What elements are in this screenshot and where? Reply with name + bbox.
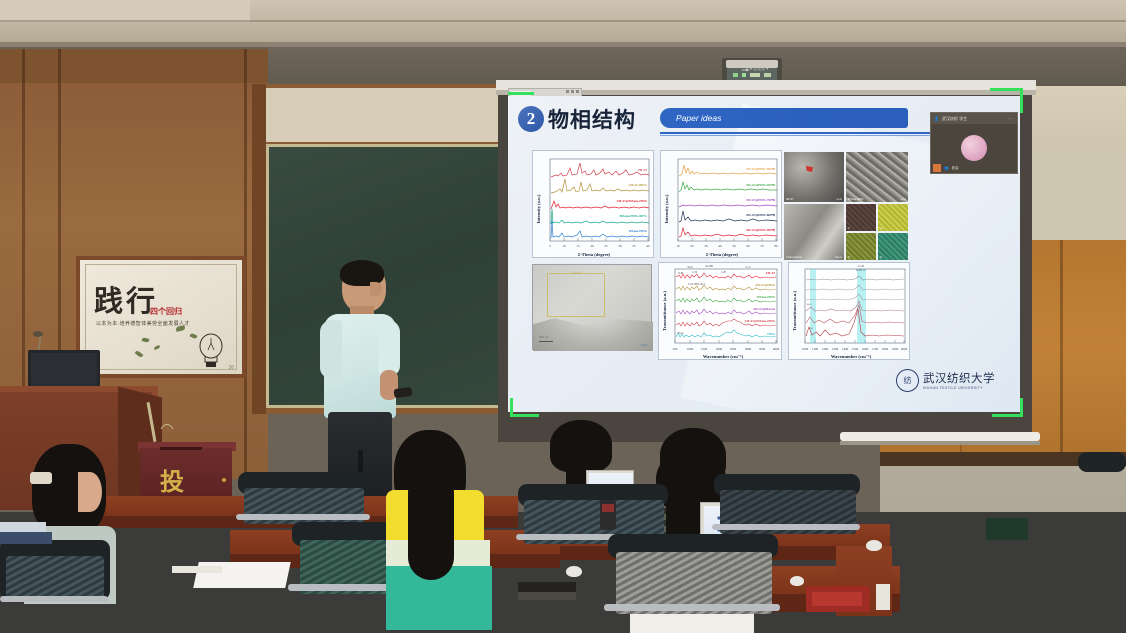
- university-name-cn: 武汉纺织大学: [923, 370, 995, 386]
- svg-text:Si-O: Si-O: [688, 266, 693, 269]
- svg-text:10: 10: [676, 244, 680, 248]
- ballot-box-latch: [222, 478, 226, 482]
- computer-mouse[interactable]: [866, 540, 882, 551]
- sem-caption: ZIF-67: [786, 198, 794, 201]
- chart-ftir-left-svg: Wavenumber (cm⁻¹) Transmittance (a.u.) 5…: [659, 263, 783, 361]
- svg-text:ZIF-67@MXene-HNTs: ZIF-67@MXene-HNTs: [745, 319, 776, 323]
- pencil-case[interactable]: [172, 566, 222, 573]
- sem-scale-bar: 2 μm: [901, 198, 906, 201]
- mic-off-icon[interactable]: [933, 164, 941, 172]
- svg-text:Transmittance (a.u.): Transmittance (a.u.): [792, 291, 797, 331]
- tem-scale-bar: 500 nm: [539, 335, 549, 339]
- svg-text:2000: 2000: [716, 347, 723, 351]
- slide-section-badge: 2: [518, 106, 544, 132]
- chair-arm[interactable]: [236, 514, 370, 520]
- lightbulb-icon: [196, 332, 226, 370]
- participants-icon[interactable]: 👥: [944, 166, 948, 170]
- eds-map-c: C: [846, 204, 876, 231]
- avatar: [961, 135, 987, 161]
- svg-text:1000: 1000: [687, 347, 694, 351]
- svg-text:ZIF-67@HNTs-500℃: ZIF-67@HNTs-500℃: [746, 167, 775, 171]
- svg-text:N-H/C=C: N-H/C=C: [856, 269, 867, 272]
- chair-arm[interactable]: [0, 596, 108, 602]
- svg-text:1500: 1500: [701, 347, 708, 351]
- tem-micrograph: MX-01 500 nm HNTs: [532, 264, 652, 350]
- svg-text:1400: 1400: [842, 347, 849, 351]
- lecture-hall-screenshot: ▂▄ ● 会议室 ▾ 2 物相结构 Paper ideas: [0, 0, 1126, 633]
- svg-text:ZIF-67: ZIF-67: [766, 271, 776, 275]
- minimize-icon[interactable]: [566, 90, 569, 93]
- svg-text:ZIF-67@MXene-HNTs: ZIF-67@MXene-HNTs: [617, 199, 648, 203]
- presenter-sleeve-right: [378, 320, 400, 376]
- maximize-icon[interactable]: [571, 90, 574, 93]
- svg-text:ZIF-67: ZIF-67: [638, 168, 648, 172]
- tem-corner-label: HNTs: [641, 343, 648, 347]
- university-name-en: WUHAN TEXTILE UNIVERSITY: [923, 386, 995, 390]
- poster-page-number: 36: [228, 365, 234, 371]
- slide-banner: Paper ideas: [660, 108, 908, 128]
- svg-text:Transmittance (a.u.): Transmittance (a.u.): [662, 291, 667, 331]
- remote-desktop-statusbar: ▂▄ ● 会议室 ▾: [700, 64, 810, 74]
- eds-label: Co: [880, 227, 883, 230]
- chair-mesh: [6, 556, 104, 600]
- svg-text:1800: 1800: [882, 347, 889, 351]
- chart-ftir-left: Wavenumber (cm⁻¹) Transmittance (a.u.) 5…: [658, 262, 782, 360]
- eds-label: N: [848, 256, 850, 259]
- svg-text:Intensity (a.u.): Intensity (a.u.): [664, 194, 669, 223]
- participants-label: 参会: [951, 166, 958, 171]
- svg-text:2000: 2000: [901, 347, 908, 351]
- sem-marker-pt: [806, 166, 813, 172]
- svg-text:1100: 1100: [812, 347, 819, 351]
- presenter-face-profile: [370, 282, 382, 296]
- svg-text:20: 20: [590, 244, 594, 248]
- chart-xrd-left: 2-Theta (degree) Intensity (a.u.) 51015 …: [532, 150, 654, 258]
- red-box-label: [812, 592, 862, 606]
- eds-map-o: O: [878, 233, 908, 260]
- audience-face: [78, 472, 102, 512]
- sem-panel-top-right: MXene-HNTs 2 μm: [846, 152, 908, 202]
- svg-text:500: 500: [673, 347, 678, 351]
- svg-text:C=C: C=C: [746, 266, 751, 269]
- wall-above-blackboard: [266, 88, 506, 142]
- svg-text:40: 40: [646, 244, 650, 248]
- svg-text:4000: 4000: [773, 347, 780, 351]
- svg-text:35: 35: [632, 244, 636, 248]
- svg-text:Si-O: Si-O: [807, 303, 812, 306]
- chair-arm[interactable]: [712, 524, 860, 530]
- eds-map-co: Co: [878, 204, 908, 231]
- svg-text:1700: 1700: [872, 347, 879, 351]
- svg-text:80: 80: [774, 244, 778, 248]
- window-controls[interactable]: [566, 90, 579, 93]
- blackboard-frame-left: [252, 84, 266, 414]
- svg-text:40: 40: [718, 244, 722, 248]
- capture-frame-corner-top-right: [990, 88, 1023, 113]
- sem-scale-bar: 2 μm: [837, 198, 842, 201]
- svg-text:Al-OH: Al-OH: [705, 265, 712, 268]
- svg-text:3000: 3000: [745, 347, 752, 351]
- person-icon: 👤: [934, 116, 939, 121]
- chart-xrd-right: 2-Theta (degree) Intensity (a.u.) 102030…: [660, 150, 782, 258]
- svg-text:2-Theta (degree): 2-Theta (degree): [578, 252, 611, 257]
- book[interactable]: [986, 518, 1028, 540]
- wall-seam: [1060, 240, 1063, 480]
- capture-frame-corner-top-left: [508, 92, 534, 95]
- svg-text:Wavenumber (cm⁻¹): Wavenumber (cm⁻¹): [703, 354, 744, 359]
- eds-label: O: [880, 256, 882, 259]
- svg-text:Wavenumber (cm⁻¹): Wavenumber (cm⁻¹): [831, 354, 872, 359]
- svg-text:ZIF-67@HNTs: ZIF-67@HNTs: [755, 283, 776, 287]
- university-seal-icon: 纺: [896, 369, 919, 392]
- poster-canvas: 践行 四个回归 以本为本·培养德智体美劳全面发展人才 36: [80, 260, 242, 374]
- chair-arm[interactable]: [604, 604, 780, 611]
- svg-text:MXene-HNTs: MXene-HNTs: [757, 295, 776, 299]
- svg-text:3500: 3500: [759, 347, 766, 351]
- sem-image-grid: ZIF-67 2 μm MXene-HNTs 2 μm Cross-sectio…: [784, 152, 908, 260]
- svg-text:1500: 1500: [852, 347, 859, 351]
- tem-scale-line: [539, 341, 553, 342]
- lectern-monitor-screen: [31, 353, 97, 387]
- ceiling-seam: [0, 20, 1126, 22]
- sem-caption: MXene-HNTs: [848, 198, 863, 201]
- audience-long-hair: [408, 470, 454, 580]
- bottle-label: [602, 504, 614, 512]
- eds-map-n: N: [846, 233, 876, 260]
- svg-text:ZIF-67-400°C: ZIF-67-400°C: [629, 183, 647, 187]
- tem-inset-box: [547, 273, 605, 317]
- svg-text:ZIF-67@HNTs-600℃: ZIF-67@HNTs-600℃: [746, 183, 775, 187]
- ballot-box-label: 投: [160, 462, 184, 497]
- book-pages: [518, 592, 576, 600]
- video-conference-window[interactable]: 👤 武汉纺织 学生 ··:·· 👥 参会: [930, 112, 1018, 174]
- eds-label: C: [848, 227, 850, 230]
- svg-text:30: 30: [618, 244, 622, 248]
- video-conference-time: ··:··: [1008, 116, 1014, 121]
- chart-xrd-right-svg: 2-Theta (degree) Intensity (a.u.) 102030…: [661, 151, 783, 259]
- wall-poster: 践行 四个回归 以本为本·培养德智体美劳全面发展人才 36: [76, 256, 246, 378]
- svg-text:30: 30: [704, 244, 708, 248]
- svg-text:2-Theta (degree): 2-Theta (degree): [706, 252, 739, 257]
- svg-text:25: 25: [604, 244, 608, 248]
- svg-text:ZIF-67@HNTs-800℃: ZIF-67@HNTs-800℃: [746, 213, 775, 217]
- svg-text:C=O 1650 cm⁻¹: C=O 1650 cm⁻¹: [688, 283, 705, 286]
- svg-text:C-H: C-H: [721, 271, 726, 274]
- chair-back[interactable]: [1078, 452, 1126, 472]
- chart-xrd-left-svg: 2-Theta (degree) Intensity (a.u.) 51015 …: [533, 151, 655, 259]
- sem-panel-bottom-left: Cross-section 10 μm: [784, 204, 844, 260]
- audience-member: [372, 430, 502, 630]
- poster-title: 践行: [94, 278, 158, 320]
- chart-ftir-right: Wavenumber (cm⁻¹) Transmittance (a.u.) 1…: [788, 262, 910, 360]
- presentation-clicker[interactable]: [393, 387, 412, 398]
- capture-frame-corner-bottom-right: [992, 398, 1023, 417]
- svg-text:Intensity (a.u.): Intensity (a.u.): [536, 194, 541, 223]
- screen-roller-bar: [840, 432, 1040, 441]
- chart-ftir-right-svg: Wavenumber (cm⁻¹) Transmittance (a.u.) 1…: [789, 263, 911, 361]
- svg-text:MXene-HNTs-400°C: MXene-HNTs-400°C: [620, 214, 647, 218]
- svg-text:ZIF-67@HNTs-700℃: ZIF-67@HNTs-700℃: [746, 198, 775, 202]
- svg-text:HNTs: HNTs: [767, 332, 775, 336]
- svg-text:1300: 1300: [832, 347, 839, 351]
- svg-text:MXene-HNTs: MXene-HNTs: [629, 229, 648, 233]
- poster-subtitle: 四个回归: [150, 306, 182, 317]
- computer-mouse[interactable]: [790, 576, 804, 586]
- computer-mouse[interactable]: [566, 566, 582, 577]
- paper-slip[interactable]: [876, 584, 890, 610]
- screen-roller-shadow: [840, 441, 1040, 445]
- svg-text:1200: 1200: [822, 347, 829, 351]
- svg-text:C=O: C=O: [858, 264, 865, 268]
- svg-text:C-H: C-H: [809, 327, 813, 330]
- close-icon[interactable]: [576, 90, 579, 93]
- book[interactable]: [0, 532, 52, 544]
- university-logo: 纺 武汉纺织大学 WUHAN TEXTILE UNIVERSITY: [896, 364, 1016, 396]
- video-conference-footer[interactable]: 👥 参会: [931, 163, 1021, 173]
- svg-text:15: 15: [576, 244, 580, 248]
- svg-text:5: 5: [549, 244, 551, 248]
- svg-text:70: 70: [760, 244, 764, 248]
- svg-text:50: 50: [732, 244, 736, 248]
- ceiling-panel-left: [0, 0, 250, 22]
- sem-caption: Cross-section: [786, 256, 802, 259]
- poster-body: 以本为本·培养德智体美劳全面发展人才: [96, 320, 190, 327]
- svg-text:20: 20: [690, 244, 694, 248]
- svg-text:1900: 1900: [892, 347, 899, 351]
- video-conference-titlebar[interactable]: 👤 武汉纺织 学生 ··:··: [931, 113, 1017, 124]
- hair-clip: [30, 472, 52, 484]
- ballot-box-slot: [160, 447, 202, 450]
- video-conference-title: 武汉纺织 学生: [942, 116, 967, 122]
- svg-text:2500: 2500: [730, 347, 737, 351]
- svg-text:Fe-O: Fe-O: [678, 332, 683, 335]
- svg-text:ZIF-67@HNTs-900℃: ZIF-67@HNTs-900℃: [746, 228, 775, 232]
- sem-scale-bar: 10 μm: [835, 256, 842, 259]
- svg-text:10: 10: [562, 244, 566, 248]
- svg-text:ZIF-67@MXene: ZIF-67@MXene: [753, 307, 775, 311]
- left-wall-top-trim: [0, 49, 268, 83]
- book[interactable]: [0, 522, 46, 532]
- sem-panel-top-left: ZIF-67 2 μm: [784, 152, 844, 202]
- svg-text:1600: 1600: [862, 347, 869, 351]
- presenter-sleeve-left: [320, 320, 342, 378]
- capture-frame-corner-bottom-left: [510, 398, 539, 417]
- svg-text:C=N: C=N: [692, 271, 697, 274]
- svg-text:60: 60: [746, 244, 750, 248]
- svg-text:O-H: O-H: [678, 272, 683, 275]
- svg-text:1000: 1000: [802, 347, 809, 351]
- slide-title: 物相结构: [548, 104, 636, 134]
- tem-inset-label: MX-01: [573, 271, 582, 275]
